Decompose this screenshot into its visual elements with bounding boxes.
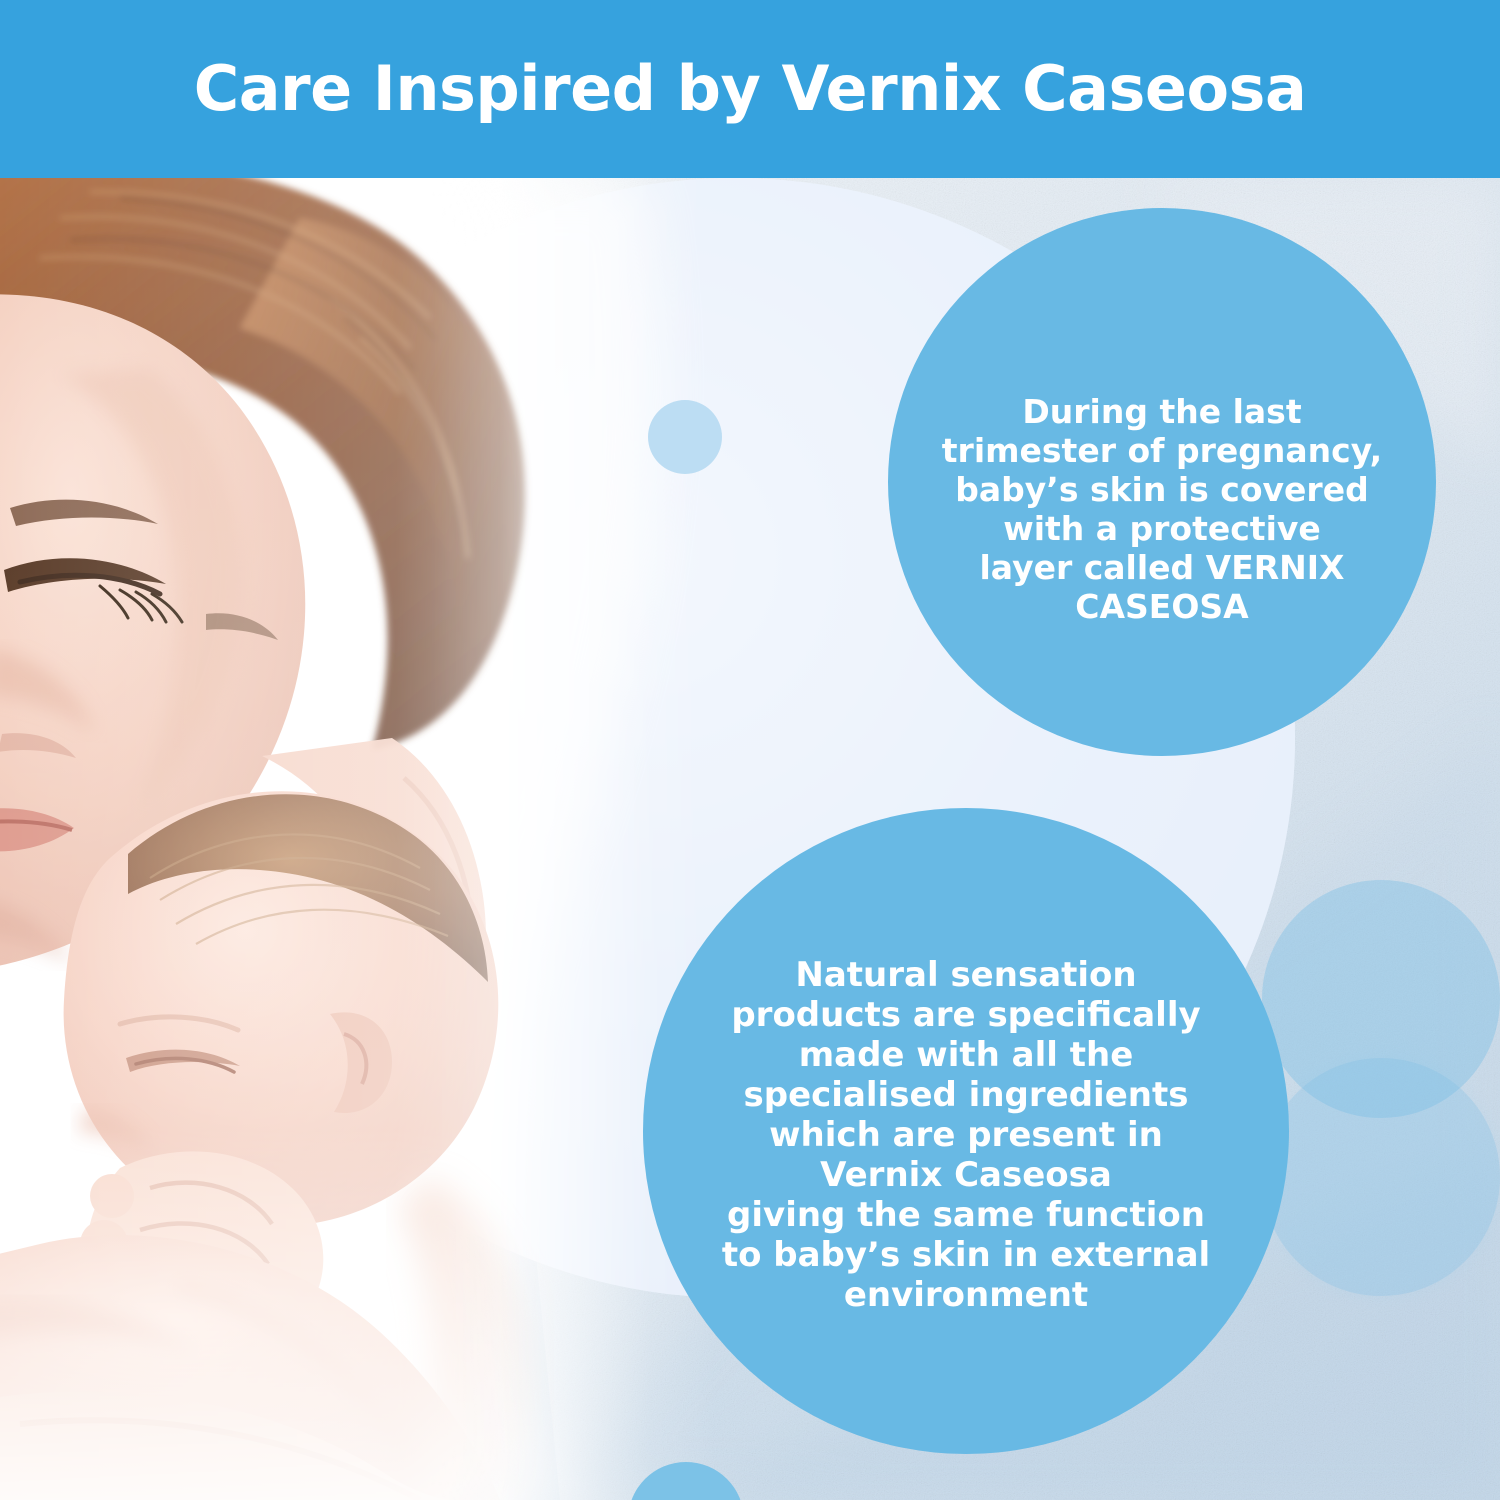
bubble-vernix-caseosa: During the last trimester of pregnancy, … bbox=[888, 208, 1436, 756]
header-band: Care Inspired by Vernix Caseosa bbox=[0, 0, 1500, 178]
bubble-natural-sensation-text: Natural sensation products are specifica… bbox=[666, 955, 1266, 1316]
page-title: Care Inspired by Vernix Caseosa bbox=[194, 58, 1307, 120]
bubble-natural-sensation: Natural sensation products are specifica… bbox=[643, 808, 1289, 1454]
mother-and-baby-photo bbox=[0, 178, 720, 1500]
decorative-soft-disc bbox=[1262, 880, 1500, 1118]
photo-illustration bbox=[0, 178, 720, 1500]
bubble-vernix-caseosa-text: During the last trimester of pregnancy, … bbox=[912, 393, 1412, 627]
decorative-dot-small bbox=[648, 400, 722, 474]
poster-root: During the last trimester of pregnancy, … bbox=[0, 0, 1500, 1500]
